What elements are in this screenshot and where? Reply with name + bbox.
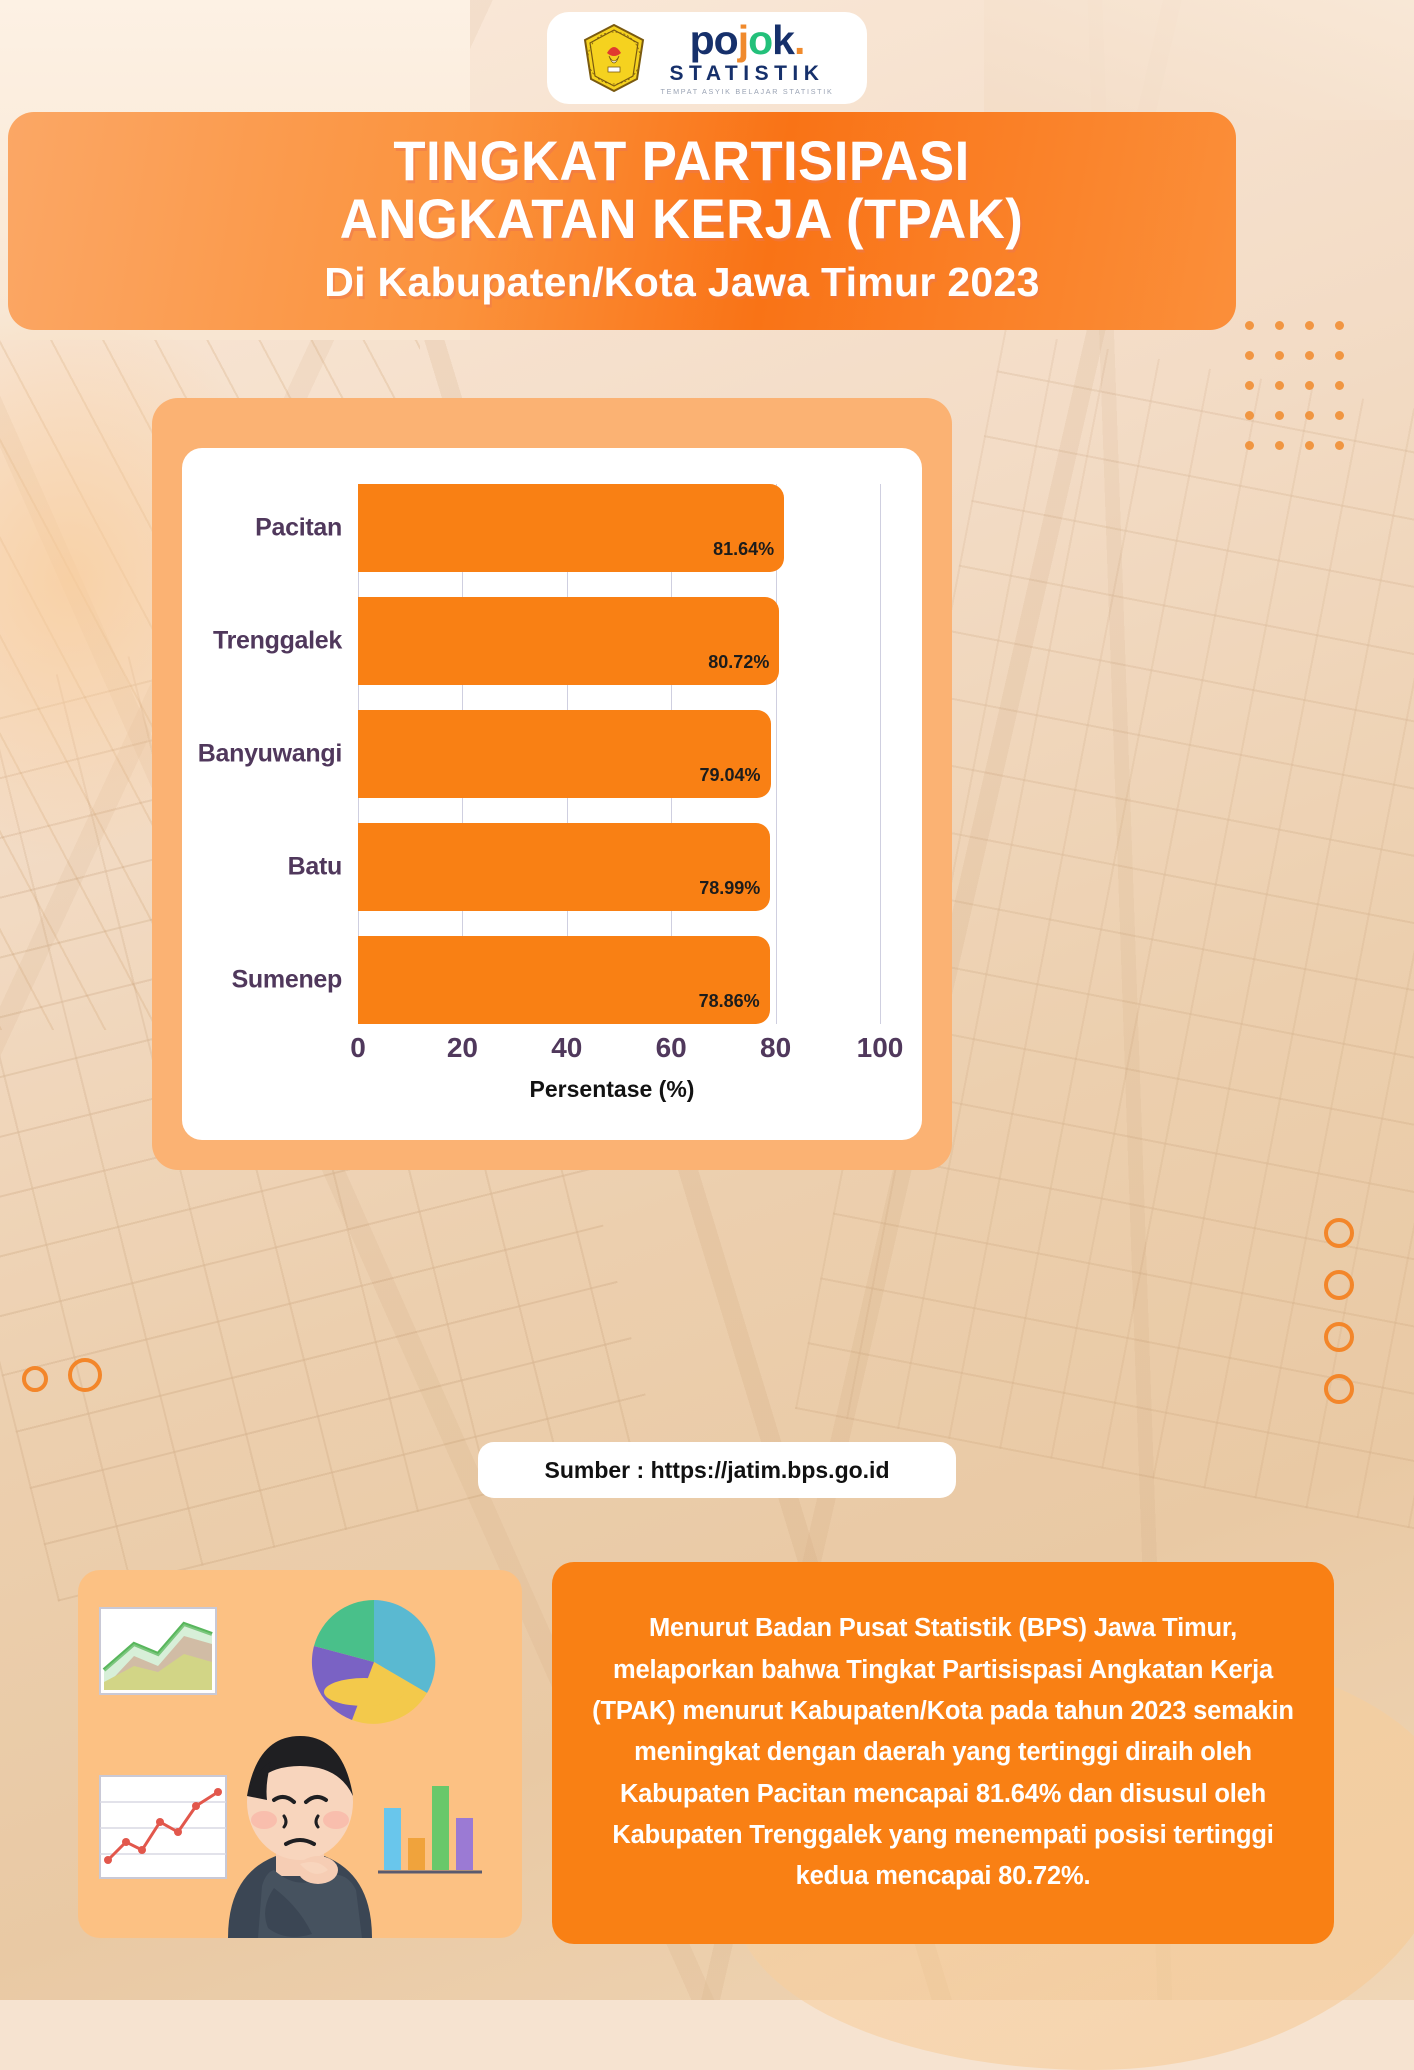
chart-category-label: Pacitan (255, 514, 342, 543)
source-badge: Sumber : https://jatim.bps.go.id (478, 1442, 956, 1498)
chart-bar-row: Trenggalek80.72% (358, 597, 880, 685)
chart-x-axis: 020406080100 (358, 1024, 880, 1070)
chart-category-label: Banyuwangi (198, 740, 342, 769)
chart-value-label: 80.72% (708, 652, 769, 673)
chart-bar: 78.86% (358, 936, 770, 1024)
chart-bar: 81.64% (358, 484, 784, 572)
brand-letter-p: p (690, 20, 714, 61)
chart-x-tick: 60 (656, 1032, 687, 1064)
chart-bar-row: Pacitan81.64% (358, 484, 880, 572)
brand-letter-j: j (738, 20, 748, 61)
page-subtitle: Di Kabupaten/Kota Jawa Timur 2023 (324, 259, 1039, 306)
dot-grid-decoration (1234, 310, 1354, 460)
chart-bar-row: Banyuwangi79.04% (358, 710, 880, 798)
chart-card-outer: Pacitan81.64%Trenggalek80.72%Banyuwangi7… (152, 398, 952, 1170)
chart-card: Pacitan81.64%Trenggalek80.72%Banyuwangi7… (182, 448, 922, 1140)
description-text: Menurut Badan Pusat Statistik (BPS) Jawa… (586, 1608, 1300, 1897)
page-title-line1: TINGKAT PARTISIPASI (394, 132, 970, 189)
brand-wordmark: p o j o k . STATISTIK TEMPAT ASYIK BELAJ… (661, 20, 834, 95)
area-chart-illustration (100, 1608, 216, 1694)
ring-decoration-right-1 (1324, 1218, 1354, 1248)
chart-x-tick: 80 (760, 1032, 791, 1064)
chart-x-tick: 20 (447, 1032, 478, 1064)
chart-category-label: Batu (288, 853, 342, 882)
brand-letter-dot: . (794, 20, 804, 61)
brand-letter-o2: o (748, 20, 772, 61)
brand-tagline: TEMPAT ASYIK BELAJAR STATISTIK (661, 88, 834, 95)
chart-x-tick: 0 (350, 1032, 366, 1064)
university-crest-icon (581, 23, 647, 93)
ring-decoration-left-2 (68, 1358, 102, 1392)
bar-chart-illustration (378, 1786, 482, 1872)
description-card: Menurut Badan Pusat Statistik (BPS) Jawa… (552, 1562, 1334, 1944)
chart-bar: 80.72% (358, 597, 779, 685)
ring-decoration-right-2 (1324, 1270, 1354, 1300)
chart-category-label: Trenggalek (213, 627, 342, 656)
chart-category-label: Sumenep (232, 966, 342, 995)
chart-x-axis-label: Persentase (%) (326, 1076, 898, 1103)
ring-decoration-right-4 (1324, 1374, 1354, 1404)
chart-bar: 78.99% (358, 823, 770, 911)
illustration-card (78, 1570, 522, 1938)
gridline-100 (880, 484, 881, 1024)
chart-value-label: 78.86% (699, 991, 760, 1012)
brand-pojok: p o j o k . (690, 20, 805, 61)
line-chart-illustration (100, 1776, 226, 1878)
background-wedge-top-right (984, 0, 1414, 120)
brand-letter-k: k (772, 20, 794, 61)
chart-x-tick: 40 (551, 1032, 582, 1064)
brand-statistik: STATISTIK (670, 63, 825, 84)
chart-value-label: 81.64% (713, 539, 774, 560)
chart-value-label: 79.04% (700, 765, 761, 786)
chart-bar-row: Batu78.99% (358, 823, 880, 911)
ring-decoration-left-1 (22, 1366, 48, 1392)
chart-bars: Pacitan81.64%Trenggalek80.72%Banyuwangi7… (358, 484, 880, 1024)
statistics-illustration (78, 1570, 522, 1938)
logo-badge: p o j o k . STATISTIK TEMPAT ASYIK BELAJ… (547, 12, 867, 104)
chart-bar: 79.04% (358, 710, 771, 798)
chart-plot-area: Pacitan81.64%Trenggalek80.72%Banyuwangi7… (358, 484, 880, 1024)
brand-letter-o1: o (714, 20, 738, 61)
page-title-line2: ANGKATAN KERJA (TPAK) (340, 190, 1023, 247)
chart-x-tick: 100 (857, 1032, 904, 1064)
pie-chart-illustration (312, 1600, 435, 1724)
chart-bar-row: Sumenep78.86% (358, 936, 880, 1024)
title-banner: TINGKAT PARTISIPASI ANGKATAN KERJA (TPAK… (8, 112, 1236, 330)
chart-value-label: 78.99% (699, 878, 760, 899)
ring-decoration-right-3 (1324, 1322, 1354, 1352)
person-illustration (228, 1736, 372, 1938)
